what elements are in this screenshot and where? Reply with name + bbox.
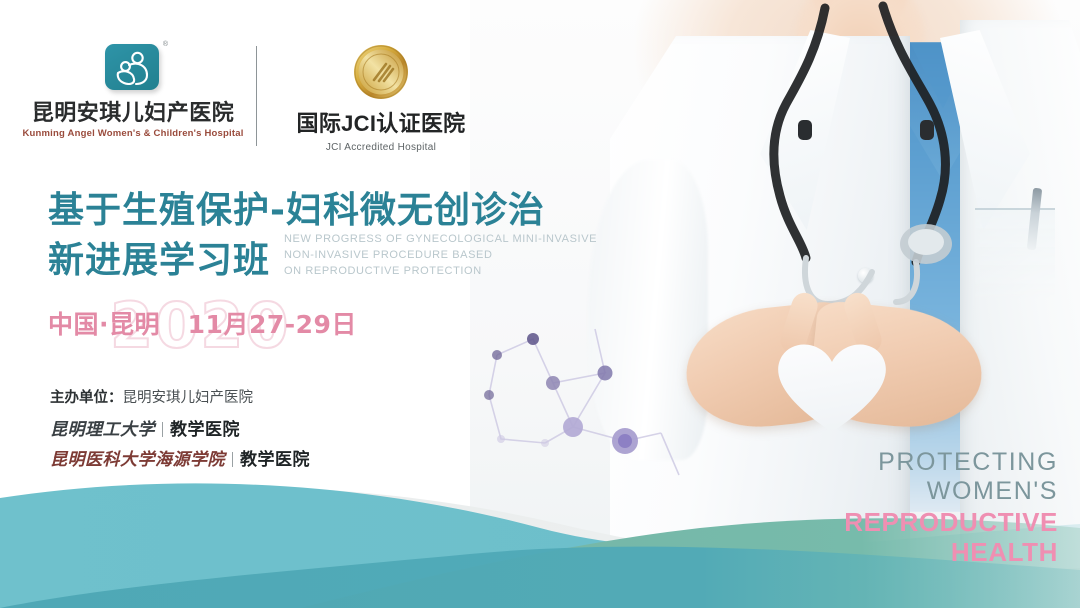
- title-english-subtitle: NEW PROGRESS OF GYNECOLOGICAL MINI-INVAS…: [284, 232, 597, 280]
- slogan-block: PROTECTING WOMEN'S REPRODUCTIVE HEALTH: [844, 448, 1058, 567]
- slogan-line-4: HEALTH: [844, 537, 1058, 567]
- title-line-1: 基于生殖保护-妇科微无创诊治: [48, 190, 648, 232]
- hospital-name-cn: 昆明安琪儿妇产医院: [32, 101, 235, 125]
- jci-logo[interactable]: 国际JCI认证医院 JCI Accredited Hospital: [293, 44, 469, 153]
- host-line: 主办单位：昆明安琪儿妇产医院: [50, 388, 310, 410]
- affiliation-role: 教学医院: [170, 415, 240, 440]
- host-value: 昆明安琪儿妇产医院: [123, 390, 254, 406]
- mother-and-child-icon: ®: [105, 44, 161, 92]
- slogan-line-3: REPRODUCTIVE: [844, 507, 1058, 537]
- hospital-name-en: Kunming Angel Women's & Children's Hospi…: [22, 128, 243, 139]
- affiliation-divider: [162, 422, 163, 437]
- event-date-block: 2020 中国·昆明 11月27-29日: [48, 297, 468, 357]
- event-date-line: 中国·昆明 11月27-29日: [48, 305, 357, 341]
- title-en-line-3: ON REPRODUCTIVE PROTECTION: [284, 264, 597, 280]
- event-location: 中国·昆明: [48, 310, 160, 339]
- affiliation-institution: 昆明医科大学海源学院: [50, 445, 225, 470]
- registered-mark: ®: [163, 41, 168, 48]
- poster-title: 基于生殖保护-妇科微无创诊治 新进展学习班 NEW PROGRESS OF GY…: [48, 190, 648, 282]
- jci-name-en: JCI Accredited Hospital: [326, 142, 436, 153]
- conference-poster: ® 昆明安琪儿妇产医院 Kunming Angel Women's & Chil…: [0, 0, 1080, 608]
- affiliation-row: 昆明医科大学海源学院 教学医院: [50, 445, 310, 470]
- hospital-logo[interactable]: ® 昆明安琪儿妇产医院 Kunming Angel Women's & Chil…: [44, 44, 222, 139]
- coat-button: [858, 268, 873, 283]
- affiliation-role: 教学医院: [240, 445, 310, 470]
- affiliation-institution: 昆明理工大学: [50, 415, 155, 440]
- coat-pocket: [975, 208, 1055, 302]
- affiliation-divider: [232, 452, 233, 467]
- slogan-line-1: PROTECTING: [844, 448, 1058, 477]
- header-logos: ® 昆明安琪儿妇产医院 Kunming Angel Women's & Chil…: [44, 44, 469, 153]
- title-en-line-2: NON-INVASIVE PROCEDURE BASED: [284, 248, 597, 264]
- logo-divider: [256, 46, 257, 146]
- event-dates: 11月27-29日: [188, 310, 357, 339]
- organizers-block: 主办单位：昆明安琪儿妇产医院 昆明理工大学 教学医院 昆明医科大学海源学院 教学…: [50, 388, 310, 470]
- jci-name-cn: 国际JCI认证医院: [297, 106, 466, 138]
- host-label: 主办单位：: [50, 390, 123, 406]
- slogan-line-2: WOMEN'S: [844, 477, 1058, 506]
- affiliation-row: 昆明理工大学 教学医院: [50, 415, 310, 440]
- title-line-2: 新进展学习班: [48, 240, 270, 282]
- title-en-line-1: NEW PROGRESS OF GYNECOLOGICAL MINI-INVAS…: [284, 232, 597, 248]
- gold-medal-icon: [353, 44, 409, 100]
